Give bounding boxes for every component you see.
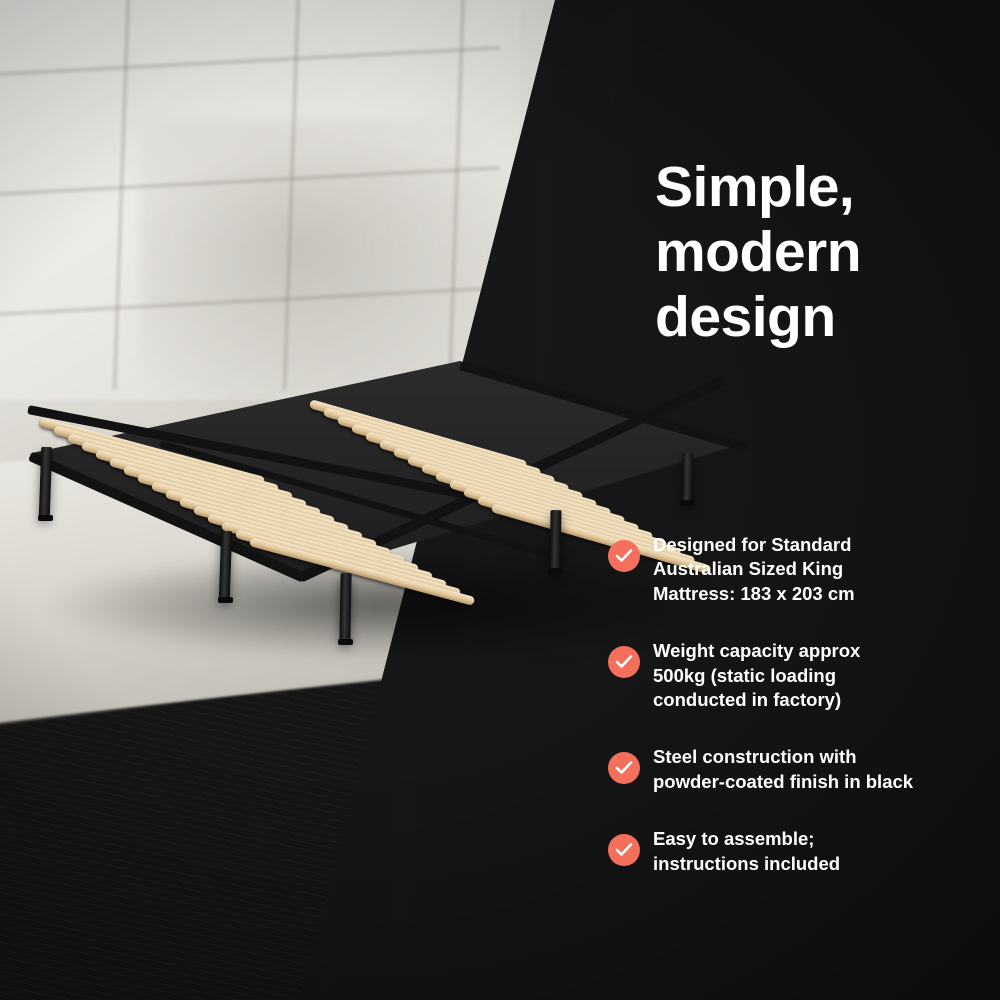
frame-leg-foot xyxy=(218,597,233,603)
feature-line: Easy to assemble; xyxy=(653,828,814,849)
frame-leg-foot xyxy=(38,515,53,521)
feature-item: Designed for Standard Australian Sized K… xyxy=(608,528,998,606)
feature-list: Designed for Standard Australian Sized K… xyxy=(608,528,998,904)
check-icon xyxy=(608,540,640,572)
feature-item: Easy to assemble; instructions included xyxy=(608,822,998,876)
feature-line: 500kg (static loading xyxy=(653,665,836,686)
check-icon xyxy=(608,834,640,866)
check-icon xyxy=(608,752,640,784)
frame-leg-foot xyxy=(338,639,353,645)
frame-leg xyxy=(339,573,351,641)
feature-line: Weight capacity approx xyxy=(653,640,860,661)
feature-text: Easy to assemble; instructions included xyxy=(653,822,840,876)
feature-line: instructions included xyxy=(653,853,840,874)
frame-leg xyxy=(682,453,694,503)
headline: Simple, modern design xyxy=(655,155,985,350)
feature-line: Steel construction with xyxy=(653,746,857,767)
feature-text: Designed for Standard Australian Sized K… xyxy=(653,528,855,606)
frame-leg xyxy=(39,447,52,517)
headline-line-3: design xyxy=(655,285,985,350)
frame-leg-foot xyxy=(680,500,695,506)
feature-line: Australian Sized King xyxy=(653,558,843,579)
product-marketing-image: Simple, modern design Designed for Stand… xyxy=(0,0,1000,1000)
feature-line: Designed for Standard xyxy=(653,534,851,555)
frame-leg-foot xyxy=(548,568,563,574)
feature-line: conducted in factory) xyxy=(653,689,841,710)
feature-line: Mattress: 183 x 203 cm xyxy=(653,583,855,604)
headline-line-2: modern xyxy=(655,220,985,285)
feature-text: Weight capacity approx 500kg (static loa… xyxy=(653,634,860,712)
feature-item: Weight capacity approx 500kg (static loa… xyxy=(608,634,998,712)
check-icon xyxy=(608,646,640,678)
headline-line-1: Simple, xyxy=(655,155,985,220)
feature-line: powder-coated finish in black xyxy=(653,771,913,792)
frame-leg xyxy=(549,510,561,572)
feature-item: Steel construction with powder-coated fi… xyxy=(608,740,998,794)
feature-text: Steel construction with powder-coated fi… xyxy=(653,740,913,794)
